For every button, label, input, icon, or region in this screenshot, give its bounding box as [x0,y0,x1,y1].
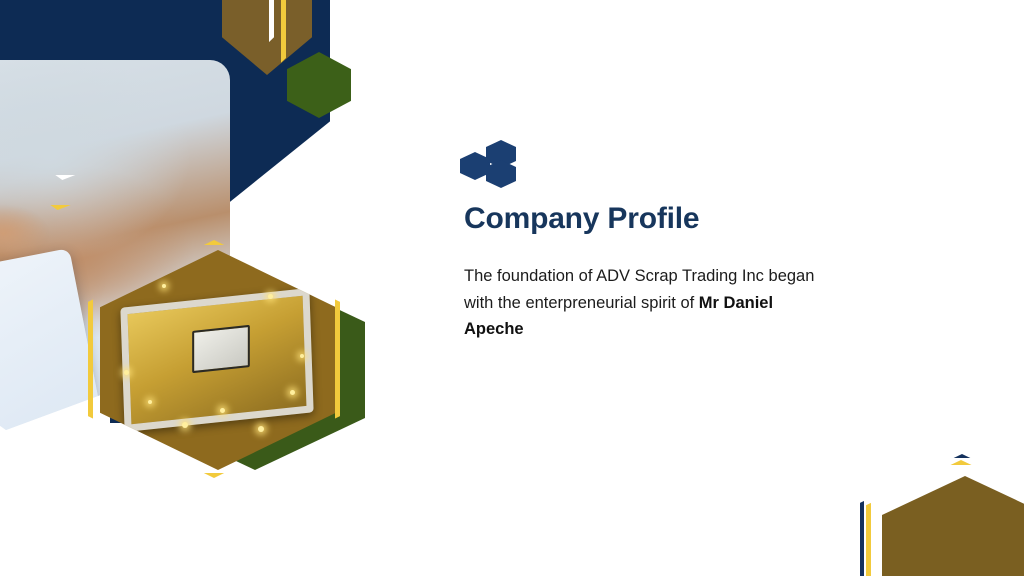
page-title: Company Profile [464,202,860,235]
slide-content: Company Profile The foundation of ADV Sc… [460,140,860,343]
triple-hexagon-logo-icon [460,140,516,186]
hexagon-left-icon [460,152,490,180]
body-paragraph: The foundation of ADV Scrap Trading Inc … [464,263,819,343]
slide-canvas: Company Profile The foundation of ADV Sc… [0,0,1024,576]
hexagon-bottom-right-icon [486,160,516,188]
left-decorative-artwork [0,0,420,500]
